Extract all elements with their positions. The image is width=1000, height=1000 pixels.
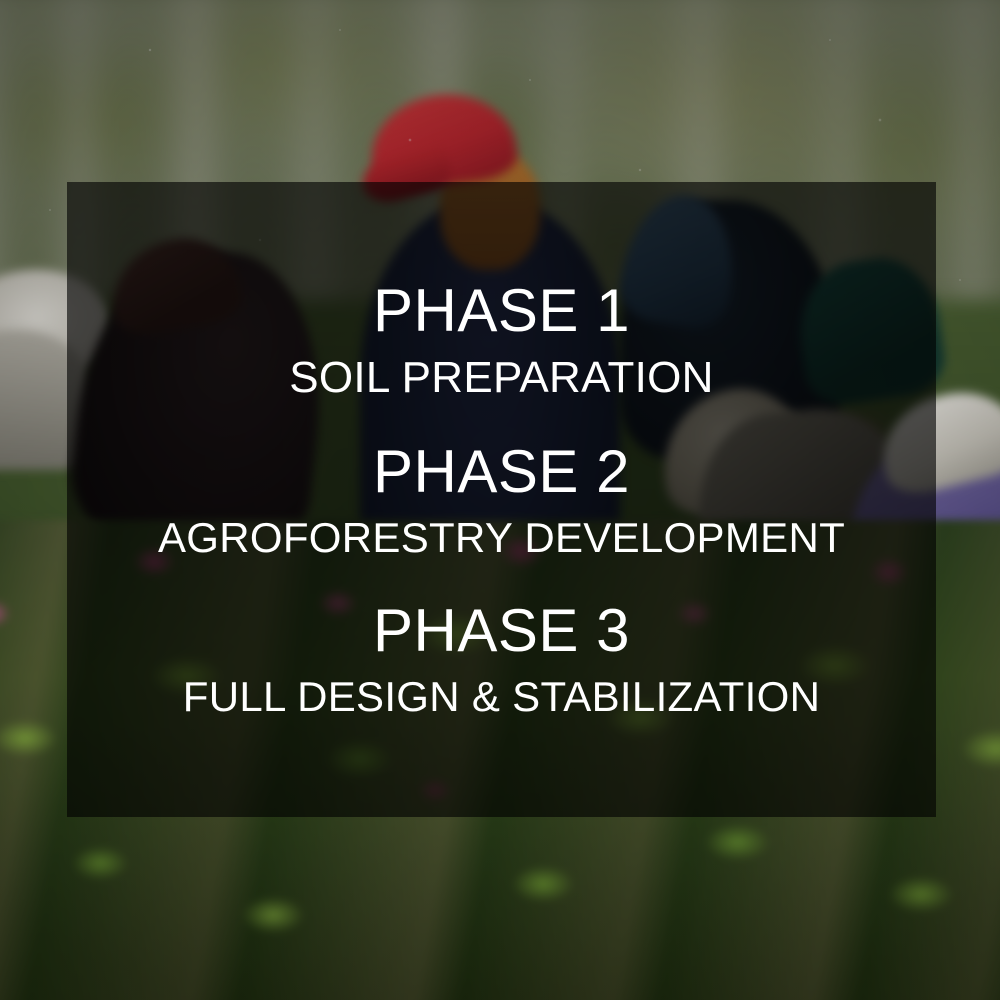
phase-3-title: PHASE 3 bbox=[67, 600, 936, 661]
phase-2-subtitle: AGROFORESTRY DEVELOPMENT bbox=[67, 516, 936, 560]
phase-block-3: PHASE 3 FULL DESIGN & STABILIZATION bbox=[67, 600, 936, 719]
phase-1-subtitle: SOIL PREPARATION bbox=[67, 355, 936, 401]
phase-block-2: PHASE 2 AGROFORESTRY DEVELOPMENT bbox=[67, 441, 936, 560]
graphic-canvas: PHASE 1 SOIL PREPARATION PHASE 2 AGROFOR… bbox=[0, 0, 1000, 1000]
phase-2-title: PHASE 2 bbox=[67, 441, 936, 502]
phase-3-subtitle: FULL DESIGN & STABILIZATION bbox=[67, 675, 936, 719]
phase-block-1: PHASE 1 SOIL PREPARATION bbox=[67, 280, 936, 401]
phase-overlay-panel: PHASE 1 SOIL PREPARATION PHASE 2 AGROFOR… bbox=[67, 182, 936, 817]
phase-1-title: PHASE 1 bbox=[67, 280, 936, 341]
